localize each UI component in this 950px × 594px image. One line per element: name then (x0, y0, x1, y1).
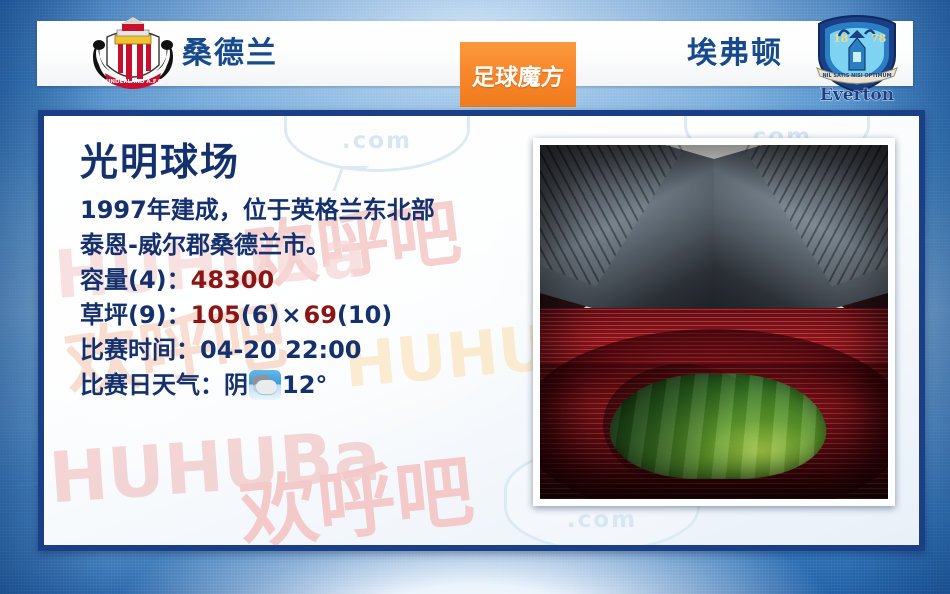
watermark-brand-bottom: 欢呼吧 (234, 429, 478, 551)
stadium-info-card: .com .com .com 欢呼吧 欢呼吧 欢呼吧 HUHUBa HUHUBa… (38, 110, 925, 551)
pitch-separator: × (279, 301, 303, 329)
sunderland-crest-icon: SUNDERLAND A.F.C. (89, 17, 177, 93)
match-header-bar: SUNDERLAND A.F.C. 桑德兰 足球魔方 埃弗顿 18 78 NIL… (37, 21, 913, 86)
site-logo-text: 足球魔方 (471, 58, 565, 92)
watermark-domain-bottom: .com (507, 507, 697, 533)
capacity-label: 容量(4)： (80, 266, 191, 294)
stadium-photo (540, 145, 888, 499)
match-time-row: 比赛时间：04-20 22:00 (80, 333, 510, 368)
stadium-info-block: 光明球场 1997年建成，位于英格兰东北部 泰恩-威尔郡桑德兰市。 容量(4)：… (80, 142, 510, 403)
pitch-row: 草坪(9)：105(6)×69(10) (80, 298, 510, 333)
weather-label: 比赛日天气： (80, 371, 224, 399)
pitch-label: 草坪(9)： (80, 301, 191, 329)
watermark-latin-lower: HUHUBa (47, 415, 383, 520)
home-team-name: 桑德兰 (182, 21, 278, 86)
site-logo[interactable]: 足球魔方 (460, 42, 576, 107)
svg-text:Everton: Everton (820, 85, 894, 104)
weather-temperature: 12° (282, 371, 327, 399)
stadium-description-line-2: 泰恩-威尔郡桑德兰市。 (80, 228, 510, 263)
away-team-name: 埃弗顿 (687, 21, 783, 86)
pitch-width-rank: (10) (337, 301, 392, 329)
svg-text:SUNDERLAND A.F.C.: SUNDERLAND A.F.C. (102, 79, 164, 85)
match-time-value: 04-20 22:00 (200, 336, 362, 364)
cloudy-icon (249, 370, 281, 400)
pitch-length-value: 105 (191, 301, 241, 329)
pitch-width-value: 69 (304, 301, 337, 329)
everton-crest-icon: 18 78 NIL SATIS NISI OPTIMUM Everton (809, 12, 905, 104)
match-time-label: 比赛时间： (80, 336, 200, 364)
stadium-photo-frame (533, 138, 895, 506)
svg-text:78: 78 (871, 32, 887, 45)
stadium-name-title: 光明球场 (80, 142, 510, 183)
svg-text:NIL SATIS NISI OPTIMUM: NIL SATIS NISI OPTIMUM (822, 73, 891, 79)
stadium-description-line-1: 1997年建成，位于英格兰东北部 (80, 193, 510, 228)
capacity-value: 48300 (191, 266, 275, 294)
svg-text:18: 18 (833, 32, 849, 45)
photo-vignette (540, 145, 888, 499)
capacity-row: 容量(4)：48300 (80, 263, 510, 298)
pitch-length-rank: (6) (241, 301, 280, 329)
weather-row: 比赛日天气：阴12° (80, 368, 510, 403)
weather-condition: 阴 (224, 371, 248, 399)
